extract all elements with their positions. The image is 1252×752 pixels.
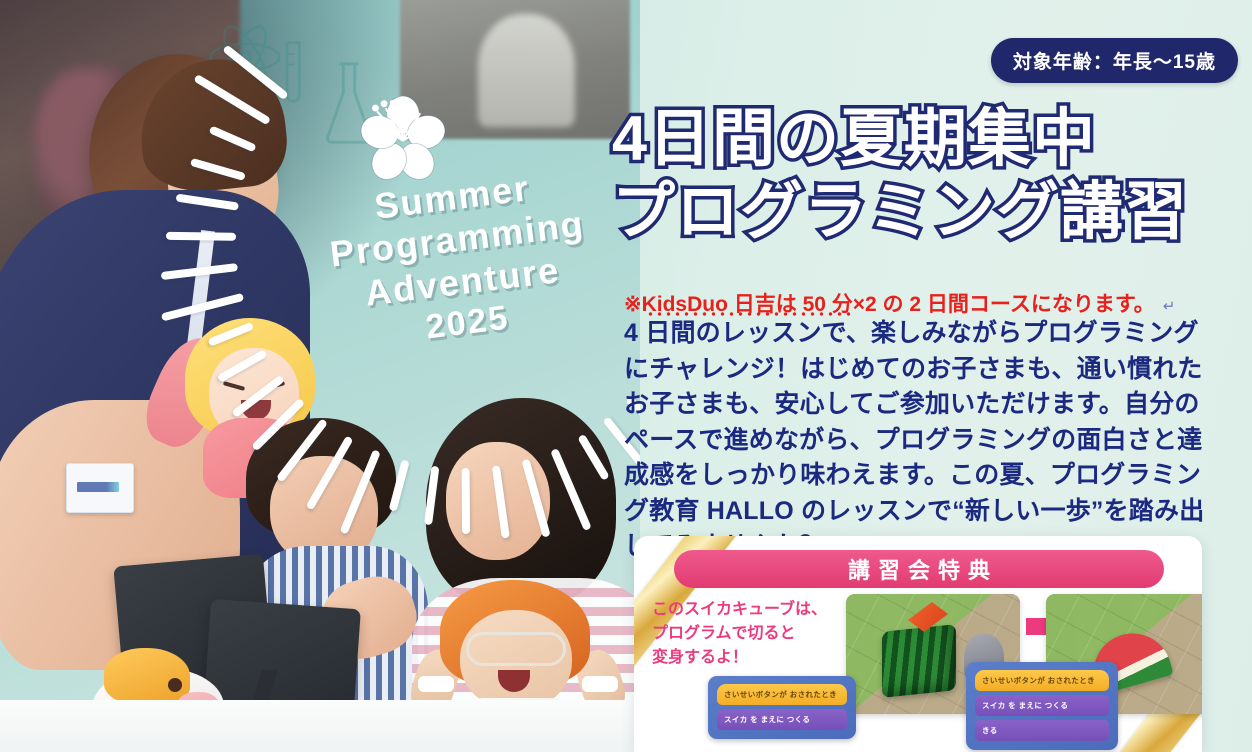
body-copy: 4 日間のレッスンで、楽しみながらプログラミングにチャレンジ！はじめてのお子さま… [624,316,1220,565]
ray-line [340,449,381,534]
ray-line [176,194,239,211]
ray-line [424,466,439,526]
headline-line-2: プログラミング講習 [612,179,1252,246]
table-surface [0,700,640,752]
id-badge [66,463,134,513]
age-range-badge: 対象年齢：年長〜15歳 [991,38,1238,83]
ray-line [208,322,255,347]
ray-line [166,232,236,241]
ray-line [251,398,305,452]
poster-root: Summer Programming Adventure 2025 対象年齢：年… [0,0,1252,752]
red-notice: ※KidsDuo 日吉は 50 分×2 の 2 日間コースになります。↵ [624,288,1175,318]
code-action-block: スイカ を まえに つくる [717,709,847,730]
bonus-caption-line-1: このスイカキューブは、 [652,598,852,622]
ray-line [209,125,257,152]
hibiscus-flower-icon [360,96,446,182]
page-title: 4日間の夏期集中 プログラミング講習 [612,106,1252,246]
ray-line [462,468,470,534]
ray-line [550,448,592,531]
ray-line [306,435,354,510]
ray-line [190,158,246,181]
bonus-card: 講習会特典 このスイカキューブは、 プログラムで切ると 変身するよ！ さいせいボ… [634,536,1202,752]
return-mark-icon: ↵ [1155,298,1176,315]
ray-line [389,459,410,511]
code-block-after: さいせいボタンが おされたとき スイカ を まえに つくる きる [966,662,1118,750]
code-action-block: スイカ を まえに つくる [975,695,1109,716]
photo-collage: Summer Programming Adventure 2025 [0,0,640,752]
bonus-banner-title: 講習会特典 [674,550,1164,588]
bonus-caption-line-2: プログラムで切ると [652,622,852,646]
ray-line [222,45,289,101]
ray-line [161,293,244,322]
ray-line [231,375,284,418]
ray-line [276,418,328,482]
code-hat-block: さいせいボタンが おされたとき [717,684,847,705]
ray-line [521,459,550,538]
ray-line [161,263,238,280]
code-block-before: さいせいボタンが おされたとき スイカ を まえに つくる [708,676,856,739]
bonus-caption: このスイカキューブは、 プログラムで切ると 変身するよ！ [652,598,852,670]
bonus-caption-line-3: 変身するよ！ [652,646,852,670]
headline-line-1: 4日間の夏期集中 [612,106,1252,173]
code-action-block: きる [975,720,1109,741]
ray-line [217,349,268,383]
ray-line [577,434,609,481]
code-hat-block: さいせいボタンが おされたとき [975,670,1109,691]
ray-line [492,465,510,538]
ray-line [193,74,271,125]
